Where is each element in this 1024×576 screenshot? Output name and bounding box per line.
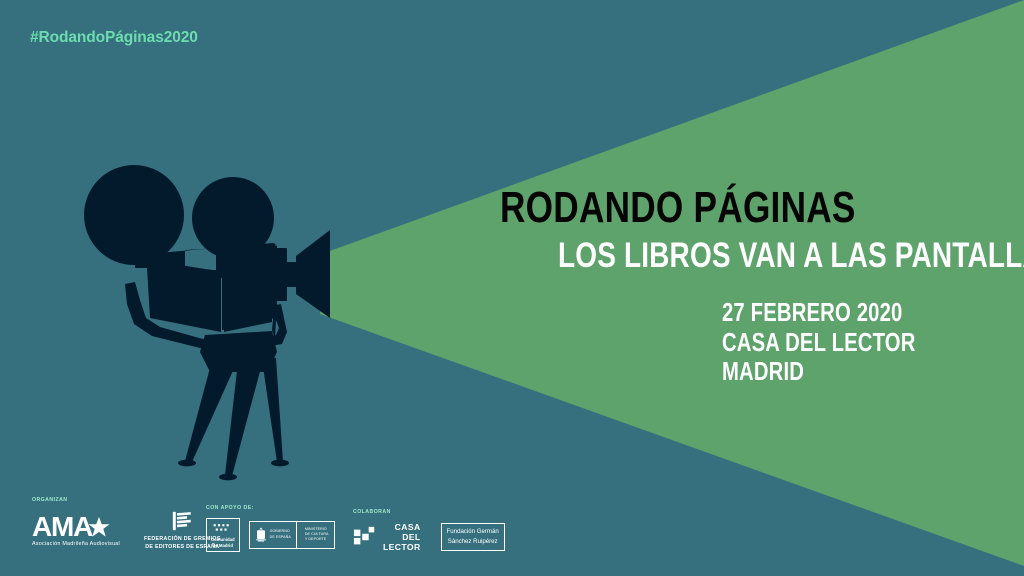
sponsor-group-organizan: ORGANIZAN AMA Asociación Madrileña Audio… [32,497,221,552]
foot-middle [219,474,237,481]
gobierno-line1: GOBIERNO [270,529,291,534]
logo-casa-del-lector-text: CASA DEL LECTOR [383,522,421,552]
film-reel-large [84,165,184,265]
page-title: RODANDO PÁGINAS [500,186,836,229]
group-label-apoyo: CON APOYO DE: [206,505,335,511]
logo-fundacion-gsr: Fundación Germán Sánchez Ruipérez [441,523,505,551]
event-city: MADRID [722,357,916,387]
lens-neck [287,262,296,287]
fgsr-line1: Fundación Germán [447,527,499,537]
coat-of-arms-icon [255,527,267,543]
group-label-organizan: ORGANIZAN [32,497,221,503]
footer-sponsors: ORGANIZAN AMA Asociación Madrileña Audio… [0,486,1024,576]
cdl-line2: DEL [383,532,421,542]
sponsor-group-apoyo: CON APOYO DE: [206,505,335,552]
gobierno-cell: GOBIERNO DE ESPAÑA [250,522,296,548]
hashtag-label: #RodandoPáginas2020 [30,29,198,47]
lens-barrel [276,248,287,301]
logo-comunidad-madrid: Comunidad de Madrid [206,518,240,552]
ministerio-text: MINISTERIO DE CULTURA Y DEPORTE [305,527,329,543]
event-details: 27 FEBRERO 2020 CASA DEL LECTOR MADRID [722,298,970,387]
foot-right [271,460,289,467]
logo-casa-del-lector: CASA DEL LECTOR [353,522,421,552]
page-subtitle: LOS LIBROS VAN A LAS PANTALLAS [558,238,848,273]
seven-stars-icon [212,522,234,535]
group-label-colaboran: COLABORAN [353,509,505,515]
logo-ama-wordmark: AMA [32,516,92,539]
cdl-line1: CASA [383,522,421,532]
logo-cm-line1: Comunidad [211,537,235,543]
logo-cm-line2: de Madrid [211,543,235,549]
fgsr-line2: Sánchez Ruipérez [447,537,499,547]
sponsor-group-colaboran: COLABORAN CASA DEL L [353,509,505,552]
ministerio-cell: MINISTERIO DE CULTURA Y DEPORTE [296,522,334,548]
logo-ama-tagline: Asociación Madrileña Audiovisual [32,541,120,547]
event-date: 27 FEBRERO 2020 [722,298,916,328]
gobierno-text: GOBIERNO DE ESPAÑA [270,529,291,540]
casa-del-lector-mark-icon [353,525,377,549]
open-book-icon [171,510,193,532]
logo-gobierno-espana: GOBIERNO DE ESPAÑA MINISTERIO DE CULTURA… [249,521,335,549]
gobierno-line2: DE ESPAÑA [270,535,291,540]
foot-left [178,460,196,467]
ministerio-line3: Y DEPORTE [305,537,329,542]
logo-comunidad-madrid-tagline: Comunidad de Madrid [211,537,235,549]
cdl-line3: LECTOR [383,542,421,552]
title-block: RODANDO PÁGINAS LOS LIBROS VAN A LAS PAN… [500,186,920,273]
event-venue: CASA DEL LECTOR [722,328,916,358]
logo-ama: AMA Asociación Madrileña Audiovisual [32,516,120,547]
star-icon [88,516,110,538]
poster-canvas: #RodandoPáginas2020 RODANDO PÁGINAS LOS … [0,0,1024,576]
